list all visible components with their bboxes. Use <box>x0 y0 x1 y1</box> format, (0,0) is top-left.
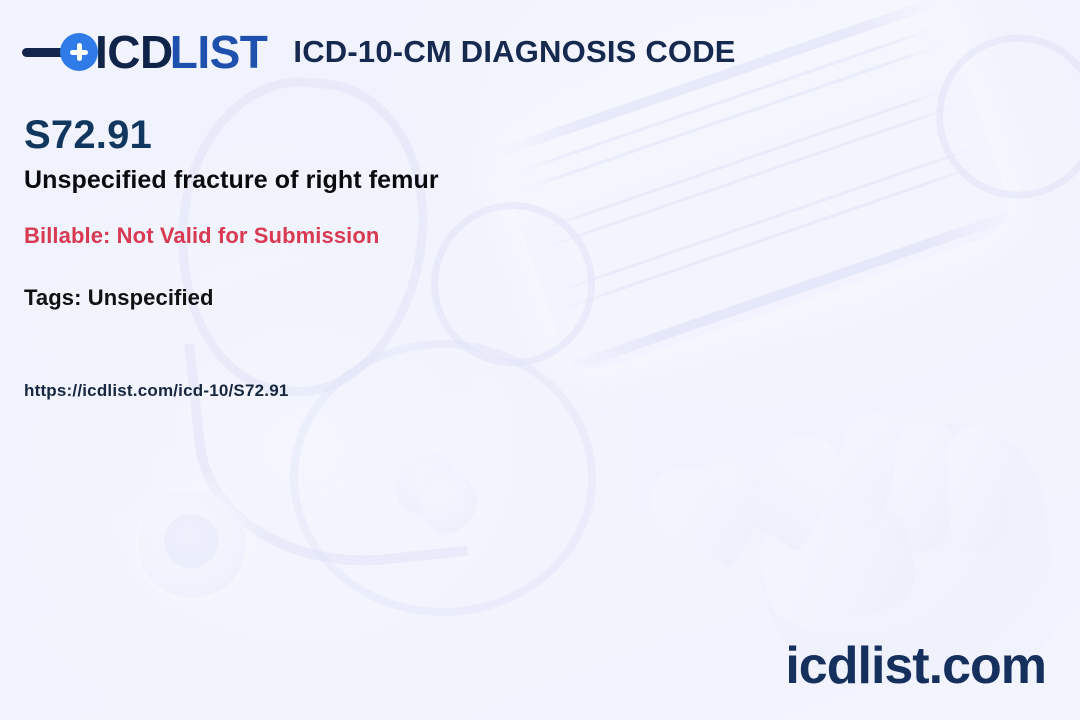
plus-icon <box>60 33 98 71</box>
diagnosis-description: Unspecified fracture of right femur <box>24 166 439 195</box>
footer-brand-text: icdlist.com <box>785 640 1046 692</box>
card-content: ICD LIST ICD-10-CM DIAGNOSIS CODE S72.91… <box>0 0 1080 720</box>
billable-status-badge: Billable: Not Valid for Submission <box>24 223 379 249</box>
icd-code-card: ICD LIST ICD-10-CM DIAGNOSIS CODE S72.91… <box>0 0 1080 720</box>
diagnosis-code: S72.91 <box>24 113 152 157</box>
icdlist-logo[interactable]: ICD LIST <box>22 26 267 78</box>
logo-text-icd: ICD <box>95 29 173 75</box>
source-url-link[interactable]: https://icdlist.com/icd-10/S72.91 <box>24 381 289 401</box>
tags-label: Tags: Unspecified <box>24 285 214 311</box>
page-title: ICD-10-CM DIAGNOSIS CODE <box>293 34 735 70</box>
card-header: ICD LIST ICD-10-CM DIAGNOSIS CODE <box>22 24 736 80</box>
logo-text-list: LIST <box>170 29 268 75</box>
